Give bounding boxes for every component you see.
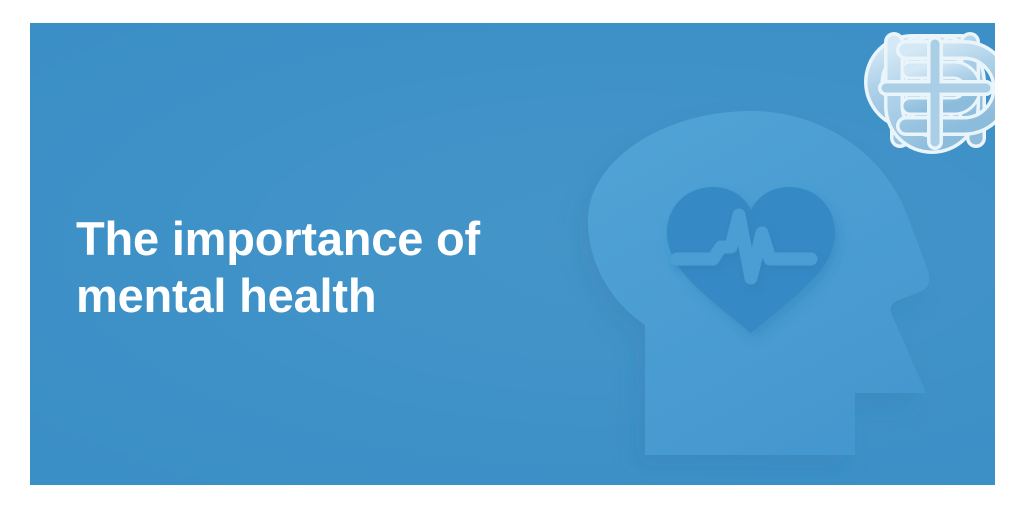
page-title: The importance of mental health [76,211,596,324]
brand-logo [854,23,995,166]
medical-cross-knot [874,42,995,144]
mental-health-banner: The importance of mental health [30,23,995,485]
banner-canvas: The importance of mental health [0,0,1024,512]
